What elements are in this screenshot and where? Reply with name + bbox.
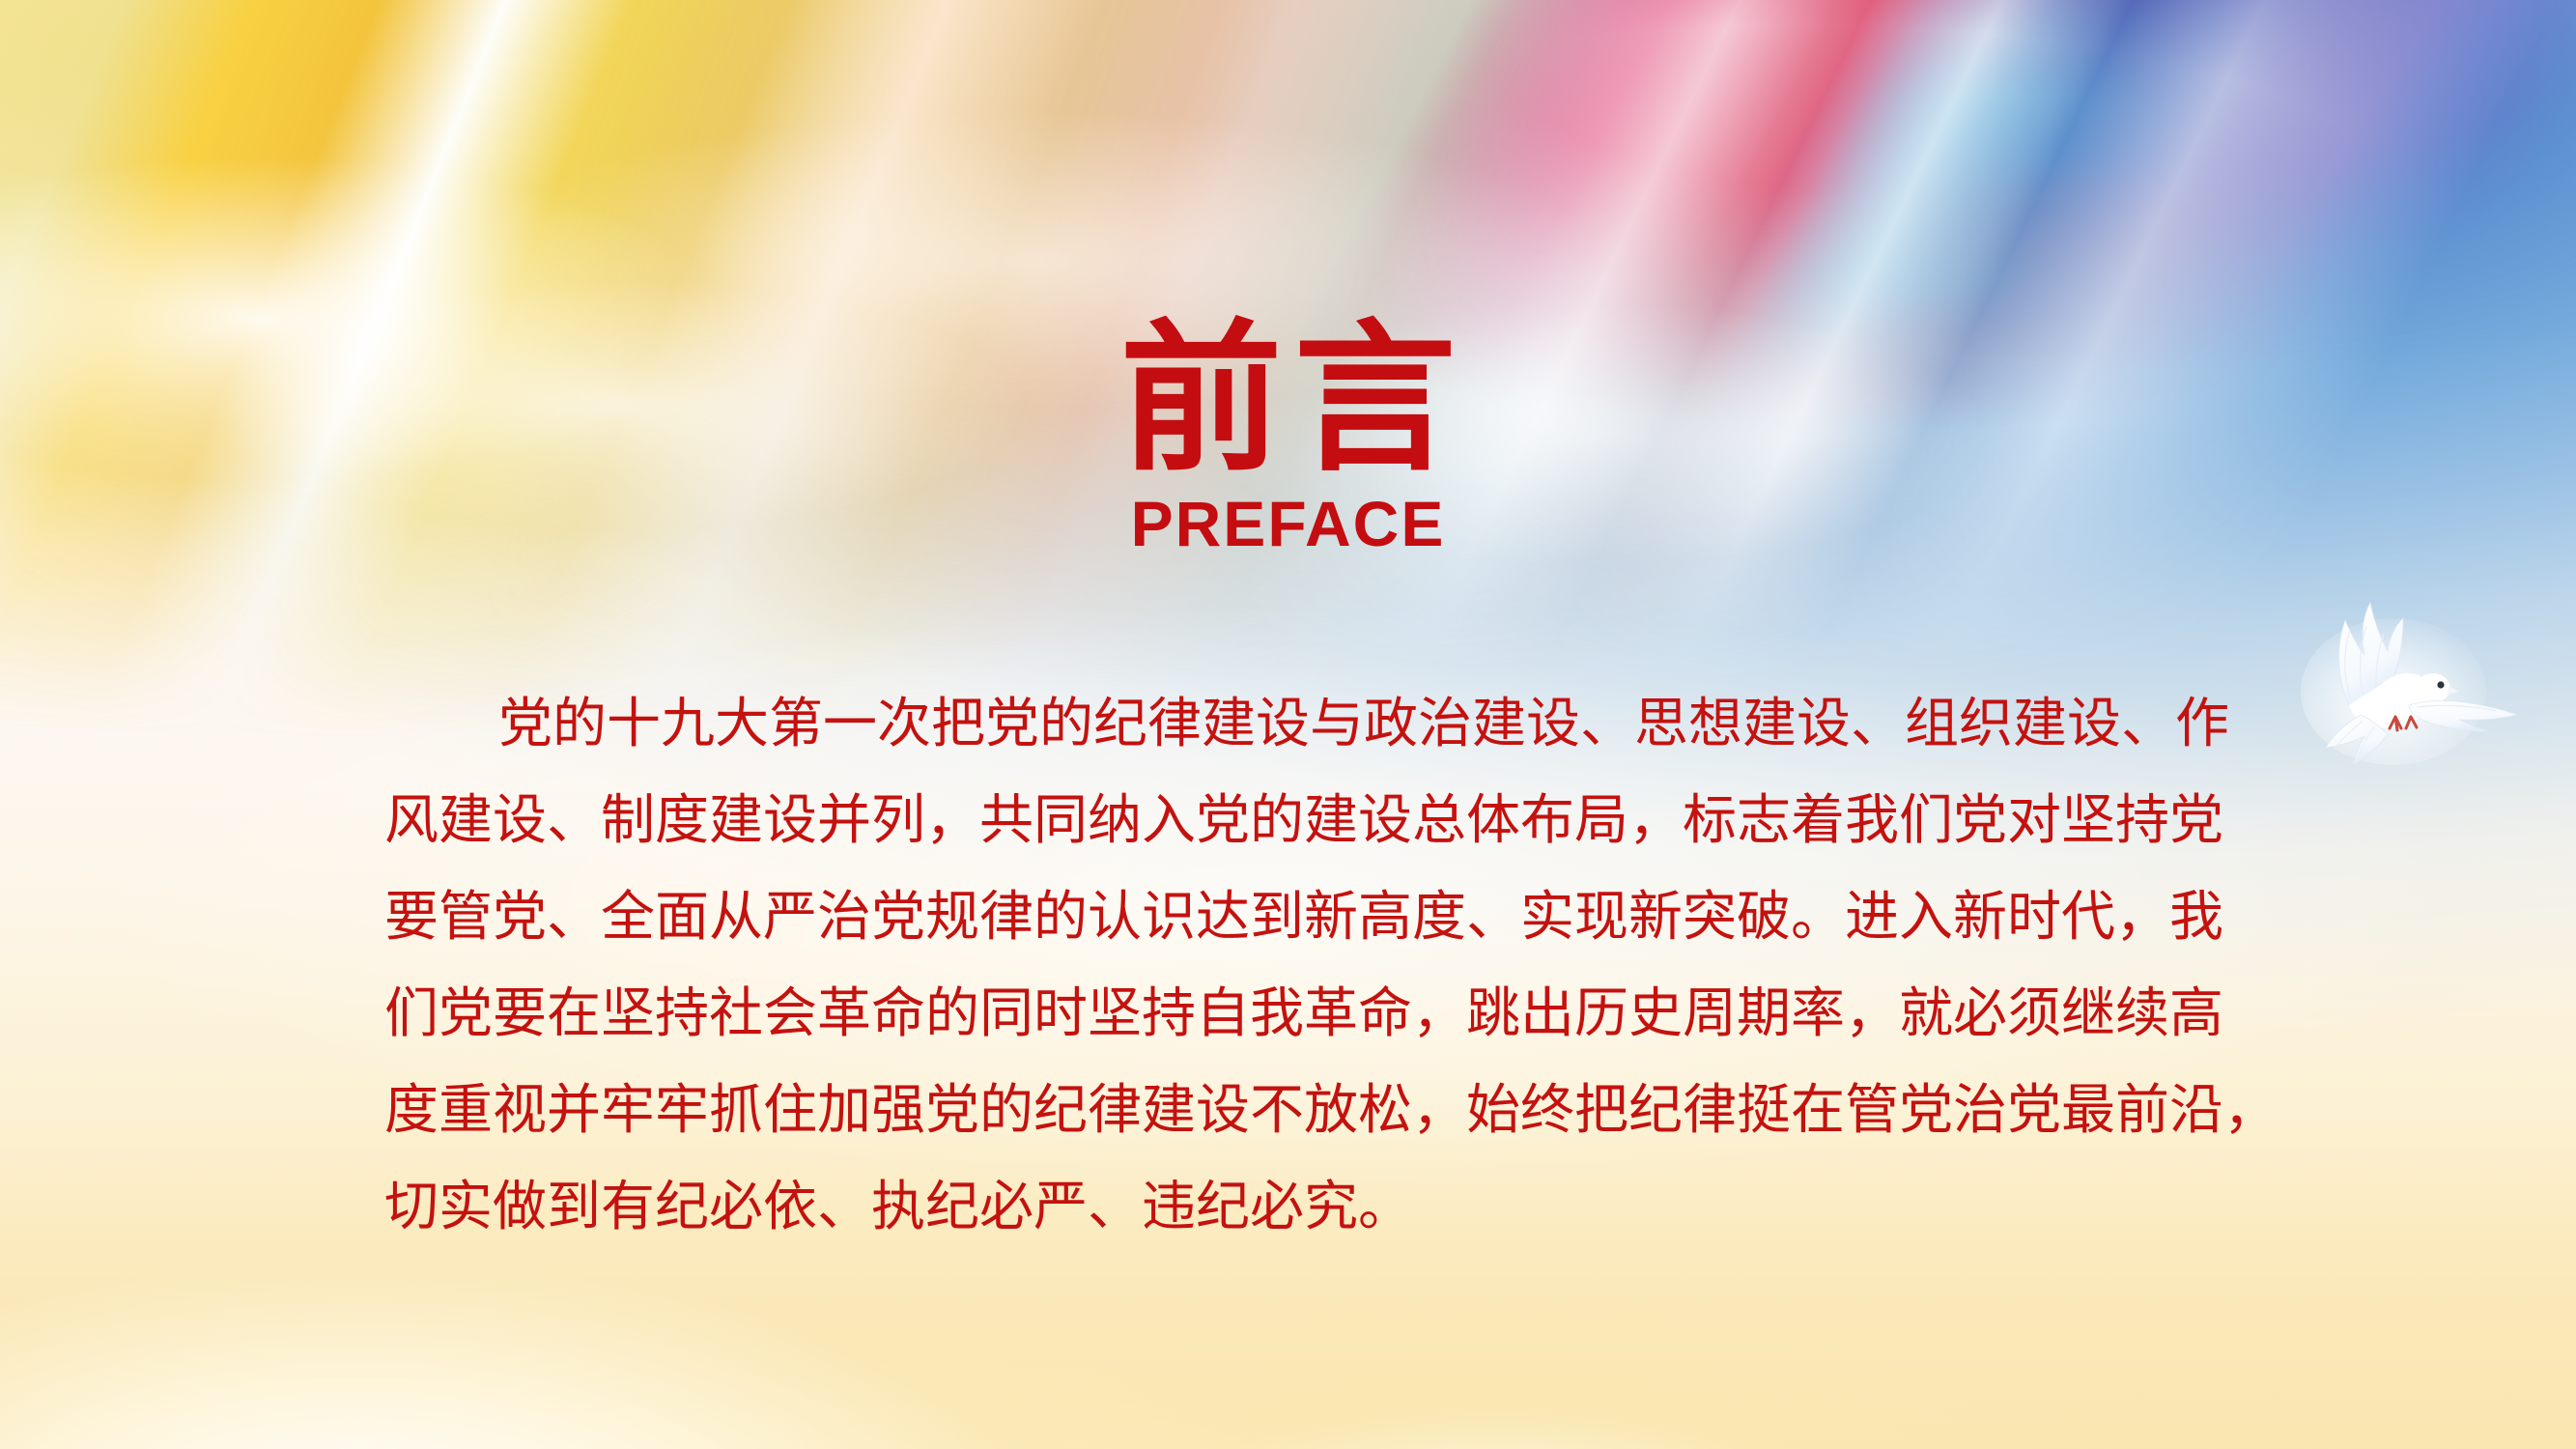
page-title-english: PREFACE [0, 492, 2576, 555]
body-line: 要管党、全面从严治党规律的认识达到新高度、实现新突破。进入新时代，我 [384, 869, 2299, 966]
body-line: 党的十九大第一次把党的纪律建设与政治建设、思想建设、组织建设、作 [384, 676, 2299, 773]
body-line: 切实做到有纪必依、执纪必严、违纪必究。 [384, 1159, 2299, 1256]
title-block: 前言 PREFACE [0, 317, 2576, 555]
preface-slide: 前言 PREFACE 党的十九大第一次把党的纪律建设与政治建设、思想建设、组织建… [0, 0, 2576, 1449]
preface-body: 党的十九大第一次把党的纪律建设与政治建设、思想建设、组织建设、作 风建设、制度建… [384, 676, 2299, 1256]
body-line: 们党要在坚持社会革命的同时坚持自我革命，跳出历史周期率，就必须继续高 [384, 966, 2299, 1063]
body-line: 度重视并牢牢抓住加强党的纪律建设不放松，始终把纪律挺在管党治党最前沿， [384, 1063, 2299, 1159]
body-line: 风建设、制度建设并列，共同纳入党的建设总体布局，标志着我们党对坚持党 [384, 773, 2299, 869]
white-dove-icon [2289, 591, 2531, 784]
page-title-chinese: 前言 [0, 317, 2576, 482]
